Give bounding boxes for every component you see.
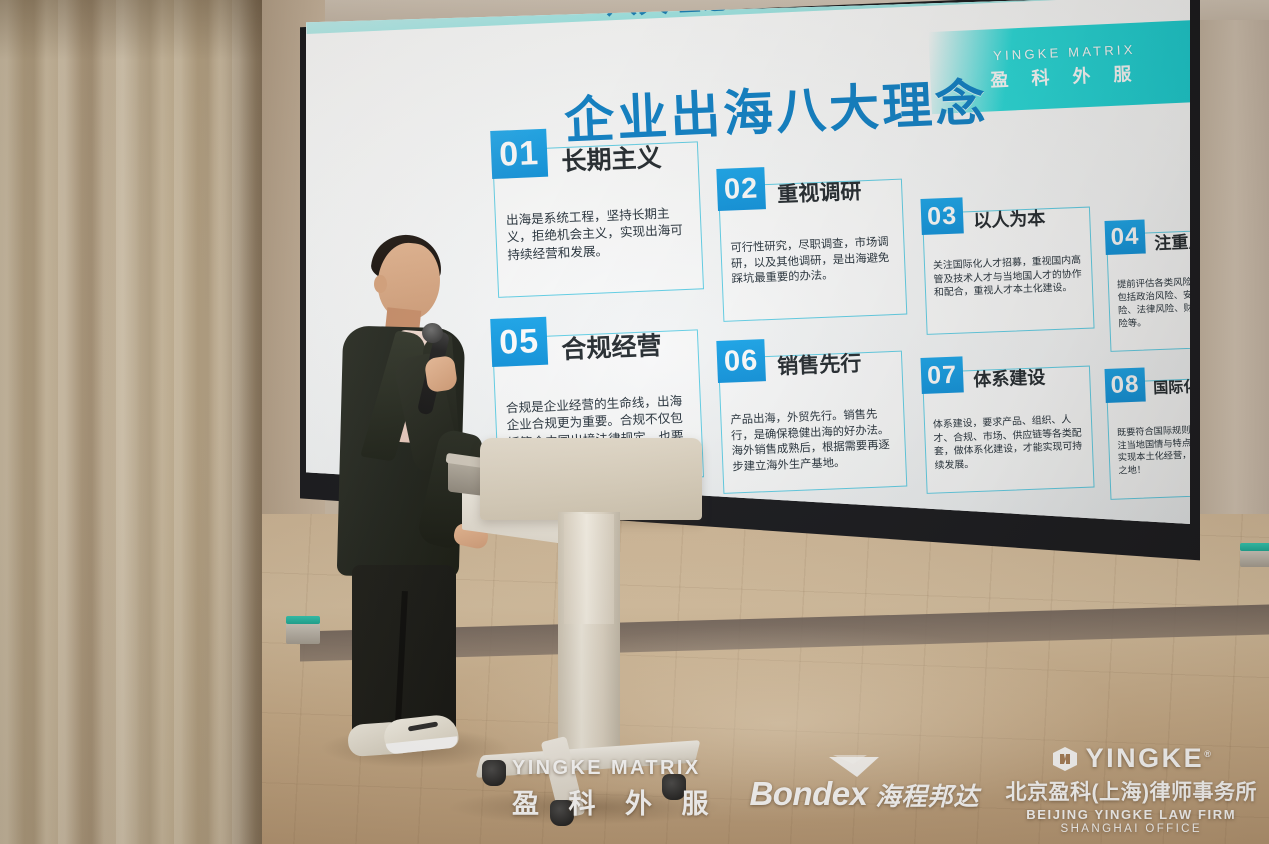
registered-mark-icon: ®: [1204, 749, 1211, 759]
logo-yingke-matrix: YINGKE MATRIX 盈 科 外 服: [512, 757, 720, 821]
window-curtain: [0, 0, 262, 844]
box-lid: [286, 616, 320, 624]
yingke-law-en: BEIJING YINGKE LAW FIRM: [1026, 807, 1236, 822]
card-number-badge: 01: [490, 129, 548, 179]
yingke-wordmark-text: YINGKE: [1086, 743, 1205, 773]
card-number-badge: 02: [716, 167, 766, 211]
curtain-edge-shadow: [214, 0, 262, 844]
logo-yingke-matrix-en: YINGKE MATRIX: [512, 757, 701, 780]
yingke-law-office: SHANGHAI OFFICE: [1061, 823, 1202, 835]
podium-column-upper: [564, 514, 614, 624]
concept-card-04: 04 注重风控 提前评估各类风险并做防范措施，包括政治风险、安全风险、商业风险、…: [1106, 228, 1190, 352]
concept-card-01: 01 长期主义 出海是系统工程，坚持长期主义，拒绝机会主义，实现出海可持续经营和…: [492, 141, 704, 297]
card-body: 既要符合国际规则和惯例，同时要关注当地国情与特点。聘用本地人才，实现本土化经营，…: [1117, 421, 1190, 478]
card-number-badge: 08: [1105, 368, 1146, 404]
box-lid: [1240, 543, 1269, 551]
presentation-photo-scene: 八大理念 YINGKE MATRIX 盈 科 外 服 企业出海八大理念 01 长…: [0, 0, 1269, 844]
concept-card-06: 06 销售先行 产品出海，外贸先行。销售先行，是确保稳健出海的好办法。海外销售成…: [718, 351, 907, 494]
speaker-ear: [374, 275, 387, 293]
speaker-hand-holding-mic: [424, 355, 458, 393]
card-title: 销售先行: [777, 347, 862, 380]
bondex-swoosh-icon: [827, 755, 881, 779]
yingke-wordmark: YINGKE®: [1086, 743, 1211, 774]
logo-yingke-matrix-cn: 盈 科 外 服: [512, 782, 720, 821]
card-title: 长期主义: [561, 138, 662, 178]
podium-desktop: [480, 438, 702, 520]
card-title: 重视调研: [777, 175, 862, 208]
floor-storage-box-left: [286, 622, 320, 644]
concept-card-02: 02 重视调研 可行性研究，尽职调查，市场调研，以及其他调研，是出海避免踩坑最重…: [718, 179, 907, 322]
card-number-badge: 04: [1105, 220, 1146, 256]
card-body: 提前评估各类风险并做防范措施，包括政治风险、安全风险、商业风险、法律风险、财税风…: [1117, 273, 1190, 331]
logo-yingke-law-firm: YINGKE® 北京盈科(上海)律师事务所 BEIJING YINGKE LAW…: [1006, 743, 1258, 835]
concept-card-03: 03 以人为本 关注国际化人才招募，重视国内高管及技术人才与当地国人才的协作和配…: [922, 207, 1095, 335]
card-title: 注重风控: [1154, 227, 1190, 255]
card-title: 体系建设: [973, 363, 1046, 392]
logo-bondex-cn: 海程邦达: [875, 777, 979, 813]
sponsor-logo-bar: YINGKE MATRIX 盈 科 外 服 Bondex 海程邦达 YINGKE…: [0, 734, 1269, 844]
yingke-cube-icon: [1052, 746, 1078, 772]
card-number-badge: 07: [920, 356, 963, 394]
logo-bondex-en: Bondex: [749, 775, 867, 813]
card-body: 关注国际化人才招募，重视国内高管及技术人才与当地国人才的协作和配合，重视人才本土…: [933, 254, 1088, 301]
card-number-badge: 03: [920, 197, 963, 235]
floor-storage-box-right: [1240, 549, 1269, 567]
logo-bondex: Bondex 海程邦达: [749, 765, 979, 813]
card-title: 合规经营: [561, 326, 662, 366]
concept-card-07: 07 体系建设 体系建设，要求产品、组织、人才、合规、市场、供应链等各类配套，做…: [922, 366, 1095, 494]
card-body: 可行性研究，尽职调查，市场调研，以及其他调研，是出海避免踩坑最重要的办法。: [730, 235, 899, 288]
concept-card-08: 08 国际化与本地化 既要符合国际规则和惯例，同时要关注当地国情与特点。聘用本地…: [1106, 376, 1190, 500]
card-body: 体系建设，要求产品、组织、人才、合规、市场、供应链等各类配套，做体系化建设，才能…: [933, 413, 1089, 473]
card-title: 以人为本: [973, 204, 1046, 233]
yingke-law-cn: 北京盈科(上海)律师事务所: [1006, 776, 1258, 806]
card-body: 产品出海，外贸先行。销售先行，是确保稳健出海的好办法。海外销售成熟后，根据需要再…: [730, 407, 899, 476]
card-number-badge: 06: [716, 339, 766, 383]
yingke-wordmark-row: YINGKE®: [1052, 743, 1211, 774]
card-title: 国际化与本地化: [1153, 373, 1190, 398]
card-body: 出海是系统工程，坚持长期主义，拒绝机会主义，实现出海可持续经营和发展。: [506, 205, 694, 265]
